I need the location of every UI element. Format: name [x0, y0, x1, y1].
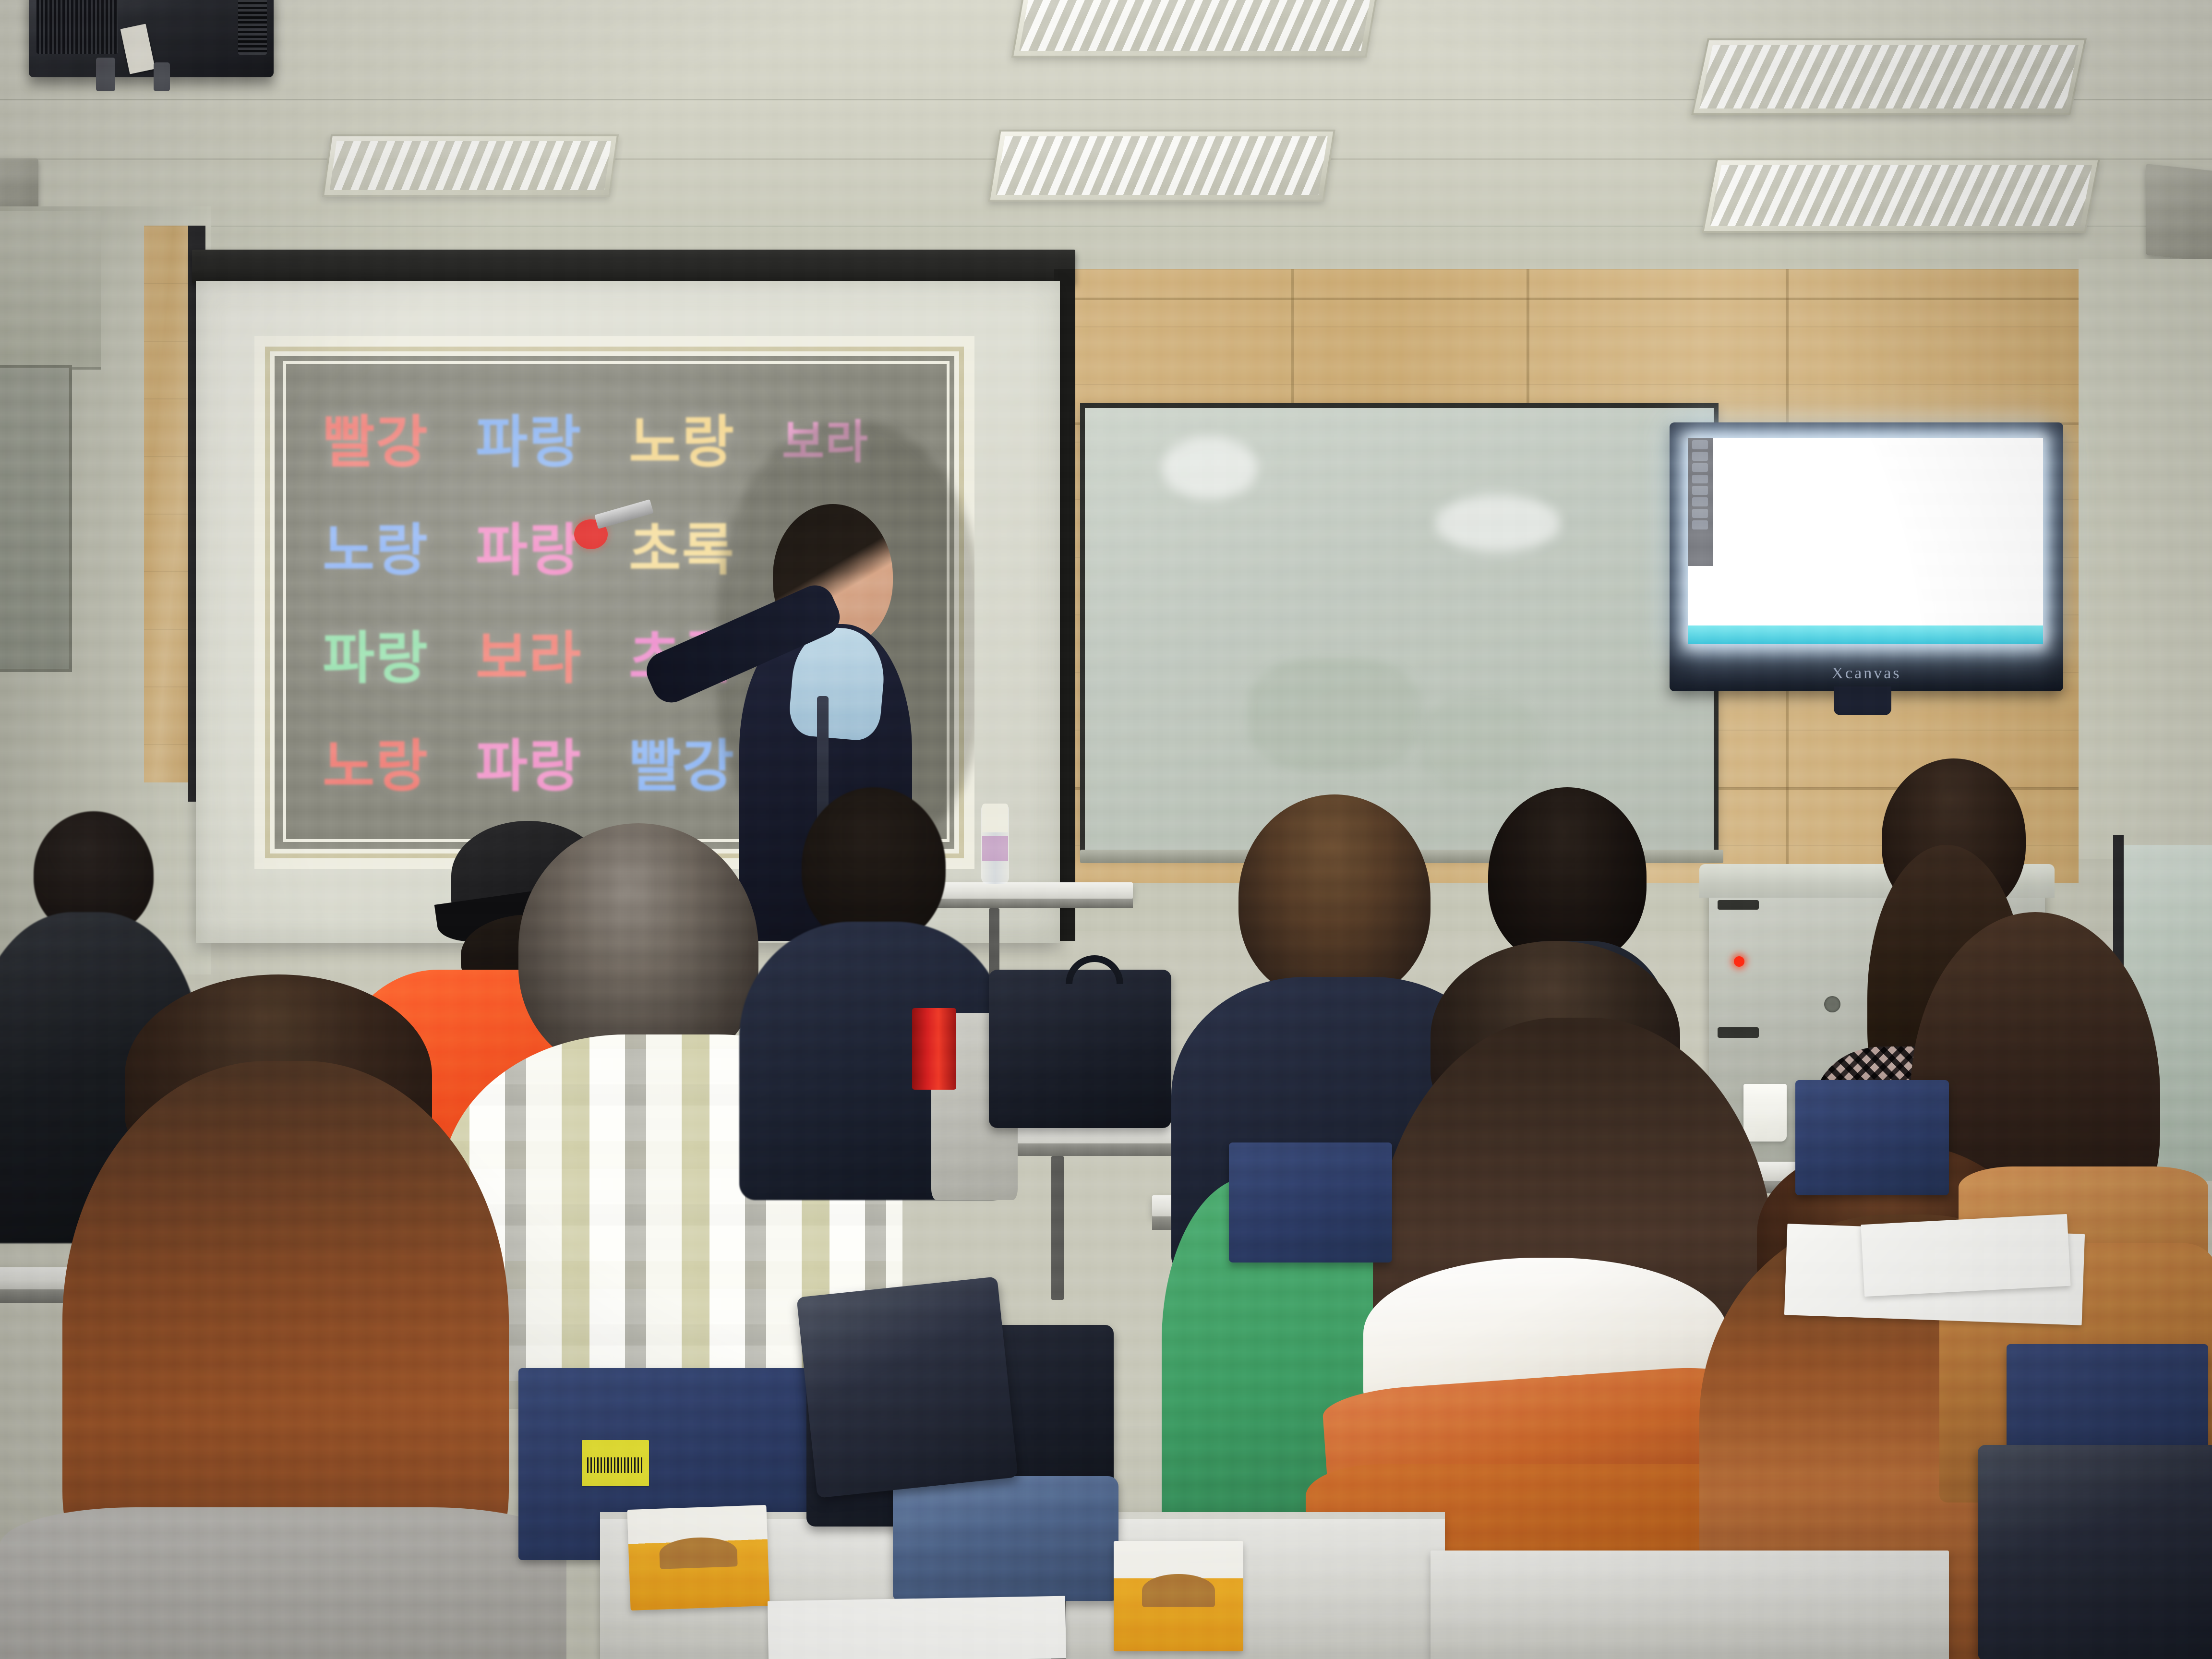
stroop-word-r1c2: 파랑	[471, 414, 624, 470]
foreground-desk-right	[1431, 1551, 1949, 1659]
whiteboard	[1080, 403, 1719, 854]
student-auburn-hair-front-left	[0, 974, 586, 1659]
ceiling-light-3	[988, 130, 1335, 202]
stroop-word-r2c1: 노랑	[318, 522, 471, 578]
tv-taskbar	[1688, 625, 2043, 644]
tv-wall-mount	[1834, 686, 1891, 715]
window-blind	[0, 211, 101, 370]
notebook-paper-front	[768, 1596, 1066, 1659]
lectern-handle-upper[interactable]	[1718, 900, 1759, 910]
stroop-word-r1c3: 노랑	[624, 414, 777, 470]
screen-housing	[192, 250, 1075, 283]
notebook-paper-far-right	[1861, 1214, 2070, 1297]
wall-speaker-small	[0, 158, 38, 211]
left-window	[0, 365, 72, 672]
ceiling-light-2	[1691, 38, 2087, 115]
stroop-word-r3c2: 보라	[471, 630, 624, 686]
right-wall-upper	[2079, 259, 2212, 859]
navy-backpack	[989, 970, 1171, 1128]
stroop-word-r3c1: 파랑	[318, 630, 471, 686]
stroop-word-r1c1: 빨강	[318, 414, 471, 470]
backpack-strap	[1066, 955, 1123, 984]
classroom-photo-scene: 빨강 파랑 노랑 보라 노랑 파랑 초록 파랑 보라 초록 노랑 파랑 빨강	[0, 0, 2212, 1659]
tv-screen	[1688, 438, 2043, 644]
tissue-box-left	[627, 1505, 769, 1611]
tv-brand-label: Xcanvas	[1670, 664, 2063, 683]
wood-wall-panel-left	[144, 226, 194, 782]
ceiling-light-4	[1702, 158, 2100, 233]
chair-back-right[interactable]	[1795, 1080, 1949, 1195]
leather-jacket-on-desk	[796, 1276, 1018, 1498]
tv-sidebar-toolbar	[1688, 438, 1713, 566]
ceiling-projector	[29, 0, 274, 77]
stroop-word-r4c2: 파랑	[471, 738, 624, 794]
student-navy-vest	[739, 787, 1008, 1200]
coca-cola-can	[912, 1008, 956, 1090]
blue-pouch	[893, 1476, 1118, 1601]
ceiling-light-1	[1011, 0, 1379, 58]
chair-barcode-label	[582, 1440, 649, 1486]
ceiling-light-5	[322, 134, 619, 197]
tissue-box-right	[1114, 1541, 1243, 1651]
stroop-word-r4c1: 노랑	[318, 738, 471, 794]
leather-bag-bottom-right	[1978, 1445, 2212, 1659]
wall-speaker	[2146, 164, 2212, 264]
wall-tv[interactable]: Xcanvas	[1670, 422, 2063, 691]
chair-back-mid[interactable]	[1229, 1142, 1392, 1262]
